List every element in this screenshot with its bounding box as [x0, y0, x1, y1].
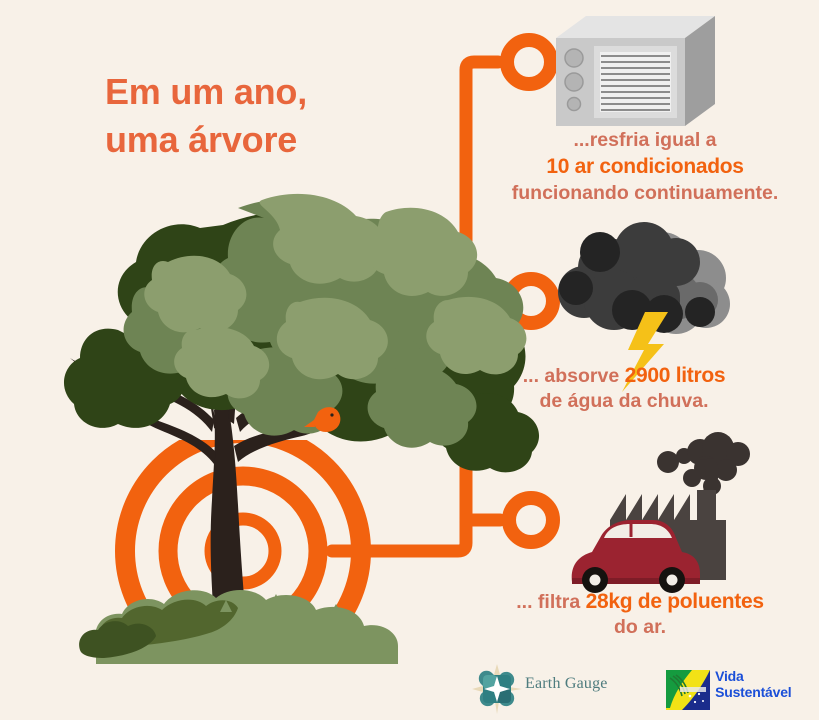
factory-car-pollution-icon — [572, 432, 750, 593]
earth-gauge-label: Earth Gauge — [525, 675, 608, 693]
fact3-prefix: ... filtra — [516, 591, 585, 613]
fact-air-conditioner: ...resfria igual a 10 ar condicionados f… — [480, 128, 810, 206]
infographic-canvas: Em um ano, uma árvore ...resfria igual a… — [0, 0, 819, 720]
fact2-line-1: ... absorve 2900 litros — [484, 362, 764, 389]
vida-sustentavel-logo[interactable]: Vida Sustentável — [663, 664, 819, 704]
headline-line-1: Em um ano, — [105, 71, 307, 112]
fact-pollutants: ... filtra 28kg de poluentes do ar. — [480, 588, 800, 641]
earth-gauge-logo[interactable]: Earth Gauge — [472, 662, 608, 706]
fact2-highlight: 2900 litros — [625, 364, 726, 387]
page-title: Em um ano, uma árvore — [105, 68, 425, 163]
fact3-highlight: 28kg de poluentes — [586, 590, 764, 613]
earth-gauge-mark-spacer — [472, 662, 516, 706]
headline-line-2: uma árvore — [105, 116, 425, 164]
vida-sustentavel-mark-spacer — [663, 664, 705, 704]
vida-sustentavel-label: Vida Sustentável — [715, 668, 819, 700]
air-conditioner-icon — [556, 16, 715, 126]
fact1-highlight: 10 ar condicionados — [480, 153, 810, 180]
fact2-prefix: ... absorve — [523, 365, 625, 387]
fact2-line-2: de água da chuva. — [484, 389, 764, 414]
fact1-line-3: funcionando continuamente. — [480, 181, 810, 206]
fact3-line-2: do ar. — [480, 615, 800, 640]
footer-logo-row: Earth Gauge Vida Sustentável — [0, 660, 819, 720]
fact1-line-1: ...resfria igual a — [480, 128, 810, 153]
fact3-line-1: ... filtra 28kg de poluentes — [480, 588, 800, 615]
fact-rainwater: ... absorve 2900 litros de água da chuva… — [484, 362, 764, 415]
